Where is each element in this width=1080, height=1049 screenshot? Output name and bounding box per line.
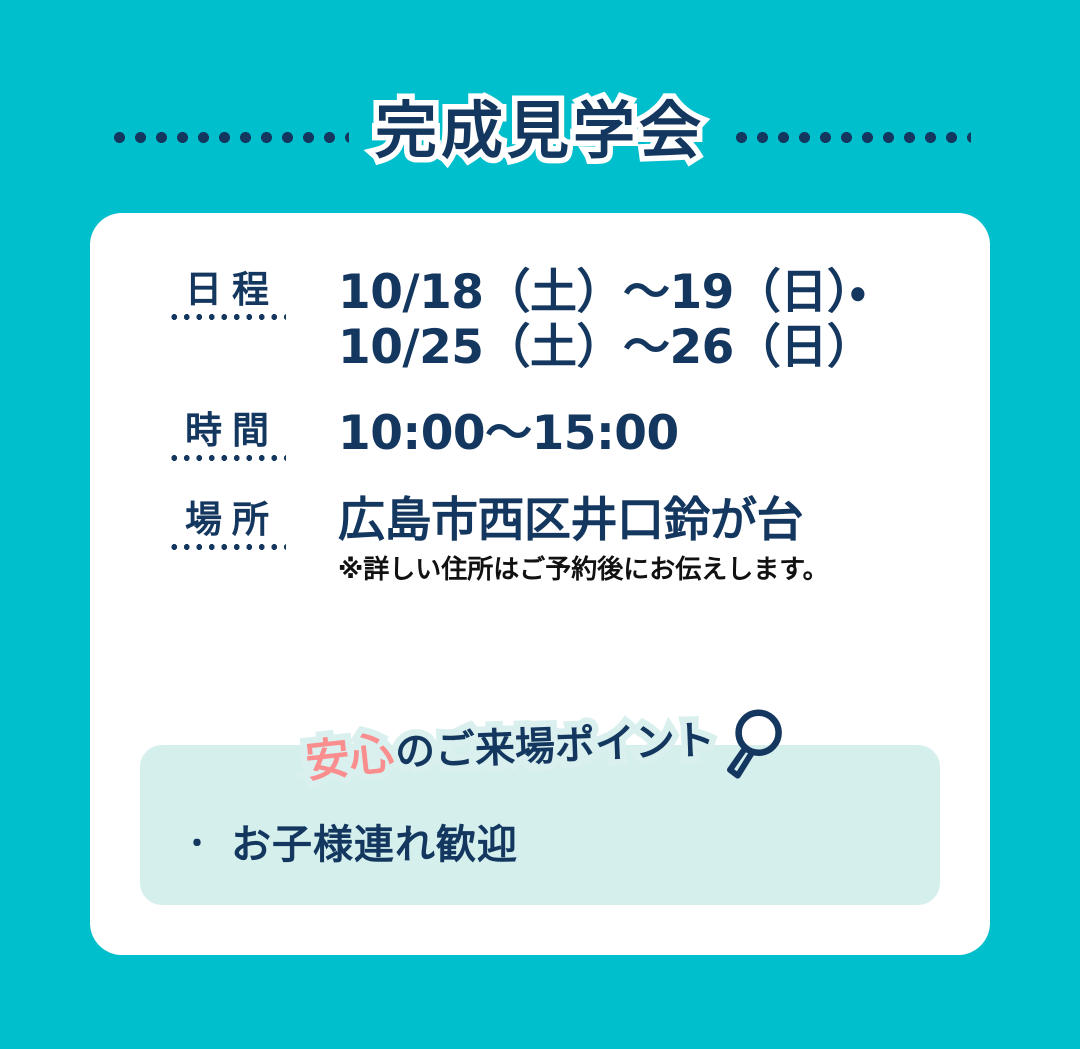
detail-row-schedule: 日程 10/18（土）〜19（日）・ 10/25（土）〜26（日） xyxy=(168,265,968,376)
list-item: ・ お子様連れ歓迎 xyxy=(182,823,518,867)
schedule-line-1: 10/18（土）〜19（日）・ xyxy=(338,265,873,320)
visit-points-list: ・ お子様連れ歓迎 xyxy=(182,823,518,867)
detail-row-place: 場所 広島市西区井口鈴が台 ※詳しい住所はご予約後にお伝えします。 xyxy=(168,493,968,587)
page-header: 完成見学会 xyxy=(0,86,1080,182)
bullet-icon: ・ xyxy=(182,830,213,860)
detail-list: 日程 10/18（土）〜19（日）・ 10/25（土）〜26（日） 時間 10:… xyxy=(168,265,968,617)
heading-rest-text: のご来場ポイント xyxy=(394,720,715,772)
detail-row-time: 時間 10:00〜15:00 xyxy=(168,406,968,463)
time-line-1: 10:00〜15:00 xyxy=(338,406,679,461)
detail-value-place: 広島市西区井口鈴が台 ※詳しい住所はご予約後にお伝えします。 xyxy=(338,493,829,587)
dotted-rule-left xyxy=(109,132,349,143)
detail-label-time: 時間 xyxy=(168,412,286,463)
info-card: 日程 10/18（土）〜19（日）・ 10/25（土）〜26（日） 時間 10:… xyxy=(90,213,990,955)
place-line-1: 広島市西区井口鈴が台 xyxy=(338,493,829,548)
dotted-rule-right xyxy=(731,132,971,143)
visit-points-heading: 安心 のご来場ポイント xyxy=(303,694,784,800)
visit-points-panel: 安心 のご来場ポイント ・ お子様連れ歓迎 xyxy=(140,745,940,905)
detail-value-time: 10:00〜15:00 xyxy=(338,406,679,461)
list-item-label: お子様連れ歓迎 xyxy=(231,823,518,867)
place-note: ※詳しい住所はご予約後にお伝えします。 xyxy=(338,554,829,587)
detail-label-place: 場所 xyxy=(168,501,286,552)
schedule-line-2: 10/25（土）〜26（日） xyxy=(338,320,873,375)
magnifier-icon xyxy=(720,706,785,784)
page-title: 完成見学会 xyxy=(375,100,705,168)
detail-label-schedule: 日程 xyxy=(168,271,286,322)
detail-value-schedule: 10/18（土）〜19（日）・ 10/25（土）〜26（日） xyxy=(338,265,873,376)
heading-accent-text: 安心 xyxy=(303,732,395,785)
